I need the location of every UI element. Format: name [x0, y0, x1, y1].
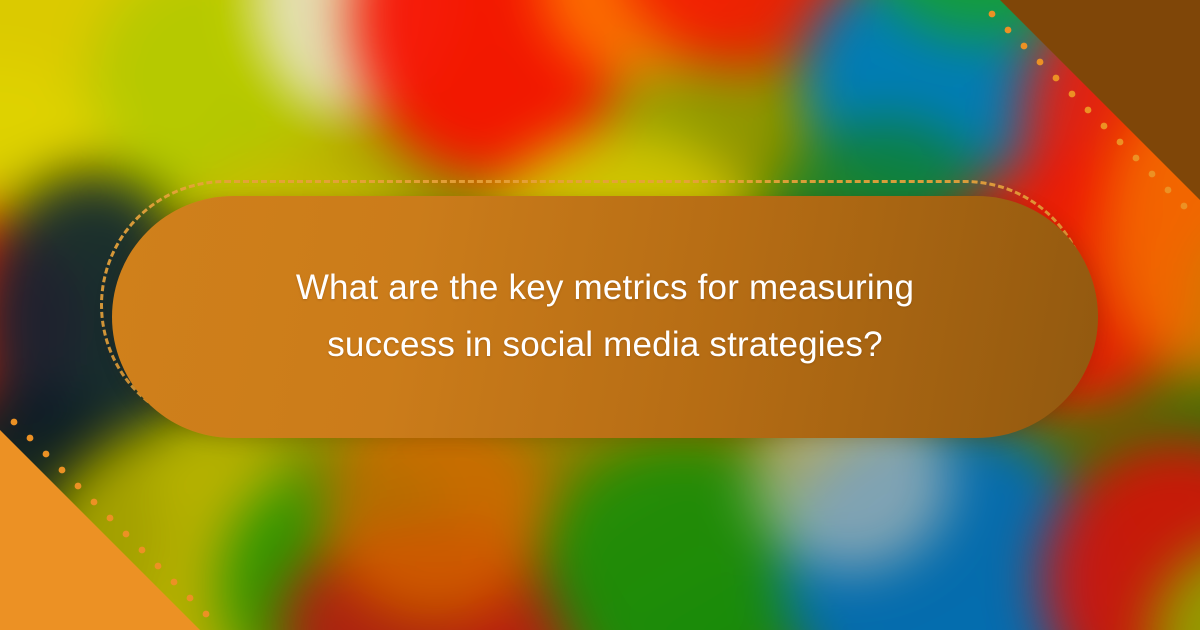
question-text: What are the key metrics for measuring s… — [165, 260, 1045, 373]
top-right-triangle — [1000, 0, 1200, 200]
question-card: What are the key metrics for measuring s… — [112, 196, 1098, 438]
bottom-left-triangle-svg — [0, 400, 230, 630]
bottom-left-corner-decoration — [0, 400, 230, 630]
social-card-image: What are the key metrics for measuring s… — [0, 0, 1200, 630]
bottom-left-triangle — [0, 430, 200, 630]
